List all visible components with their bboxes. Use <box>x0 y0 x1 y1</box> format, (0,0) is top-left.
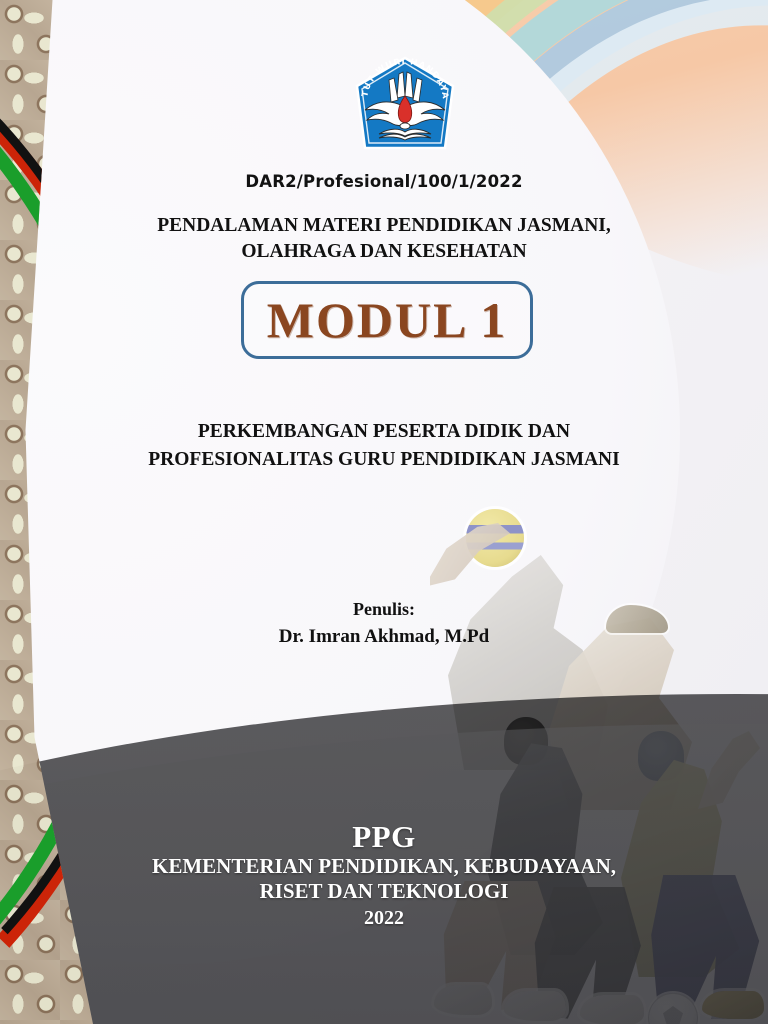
author-name: Dr. Imran Akhmad, M.Pd <box>0 623 768 652</box>
module-label: MODUL 1 <box>267 291 507 349</box>
book-cover: TUT WURI HANDAYANI DAR2/Profesional/100/… <box>0 0 768 1024</box>
page-subtitle: PERKEMBANGAN PESERTA DIDIK DAN PROFESION… <box>60 418 708 473</box>
tut-wuri-handayani-logo: TUT WURI HANDAYANI <box>353 56 457 164</box>
program-name: PPG <box>0 821 768 854</box>
author-block: Penulis: Dr. Imran Akhmad, M.Pd <box>0 596 768 652</box>
subtitle-line-2: PROFESIONALITAS GURU PENDIDIKAN JASMANI <box>60 446 708 474</box>
main-title-line-1: PENDALAMAN MATERI PENDIDIKAN JASMANI, <box>90 213 678 239</box>
author-label: Penulis: <box>0 596 768 623</box>
ministry-line-2: RISET DAN TEKNOLOGI <box>0 879 768 905</box>
subtitle-line-1: PERKEMBANGAN PESERTA DIDIK DAN <box>60 418 708 446</box>
document-code: DAR2/Profesional/100/1/2022 <box>0 172 768 191</box>
ministry-line-1: KEMENTERIAN PENDIDIKAN, KEBUDAYAAN, <box>0 854 768 880</box>
main-title-line-2: OLAHRAGA DAN KESEHATAN <box>90 239 678 265</box>
footer-block: PPG KEMENTERIAN PENDIDIKAN, KEBUDAYAAN, … <box>0 821 768 932</box>
publication-year: 2022 <box>0 905 768 932</box>
cover-content: TUT WURI HANDAYANI DAR2/Profesional/100/… <box>0 0 768 1024</box>
page-title: PENDALAMAN MATERI PENDIDIKAN JASMANI, OL… <box>90 213 678 264</box>
module-badge: MODUL 1 <box>241 281 533 359</box>
